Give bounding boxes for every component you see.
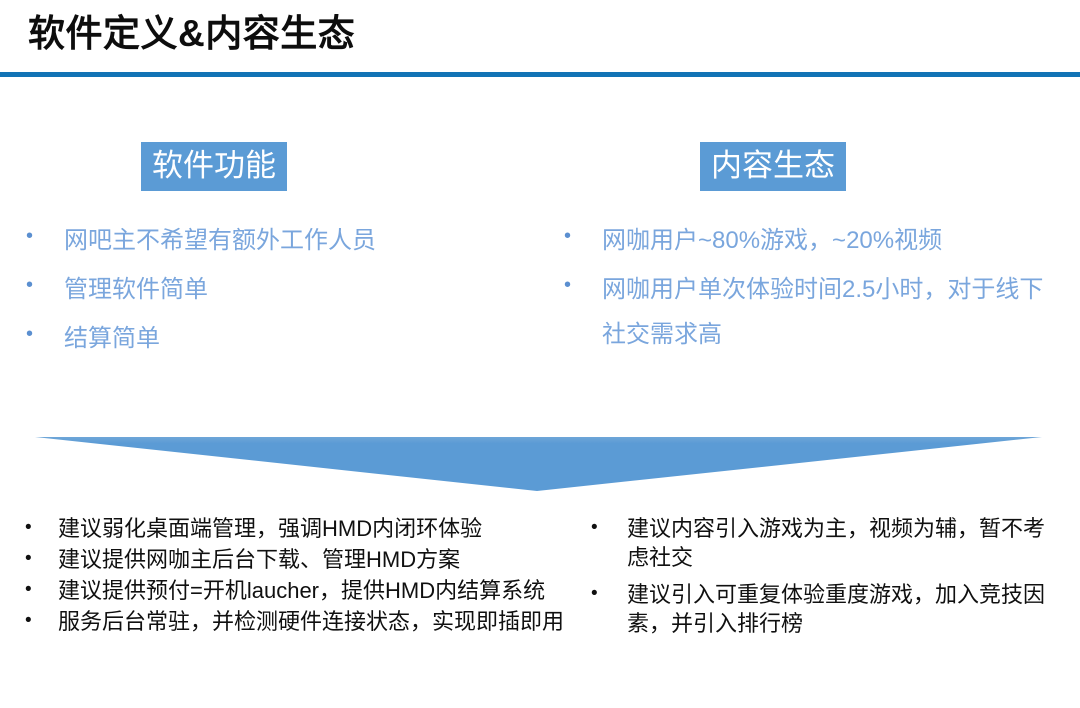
- list-item: • 网吧主不希望有额外工作人员: [22, 218, 542, 263]
- list-item-label: 网咖用户~80%游戏，~20%视频: [602, 218, 1060, 263]
- list-item-label: 建议提供网咖主后台下载、管理HMD方案: [58, 545, 567, 574]
- list-item: • 建议内容引入游戏为主，视频为辅，暂不考虑社交: [588, 514, 1058, 572]
- list-item: • 建议提供预付=开机laucher，提供HMD内结算系统: [22, 576, 567, 605]
- bullet-dot-icon: •: [22, 316, 64, 354]
- section-heading-software: 软件功能: [141, 142, 287, 191]
- bullet-dot-icon: •: [22, 607, 58, 635]
- list-item-label: 网咖用户单次体验时间2.5小时，对于线下社交需求高: [602, 267, 1060, 357]
- page-title: 软件定义&内容生态: [28, 13, 355, 56]
- list-item: • 建议引入可重复体验重度游戏，加入竞技因素，并引入排行榜: [588, 580, 1058, 638]
- bullet-dot-icon: •: [588, 514, 627, 542]
- list-item-label: 网吧主不希望有额外工作人员: [64, 218, 542, 263]
- list-item: • 网咖用户~80%游戏，~20%视频: [560, 218, 1060, 263]
- bullet-dot-icon: •: [22, 514, 58, 542]
- software-requirements-list: • 网吧主不希望有额外工作人员 • 管理软件简单 • 结算简单: [22, 218, 542, 365]
- title-divider-rule: [0, 72, 1080, 77]
- bullet-dot-icon: •: [22, 267, 64, 305]
- list-item: • 管理软件简单: [22, 267, 542, 312]
- list-item: • 网咖用户单次体验时间2.5小时，对于线下社交需求高: [560, 267, 1060, 357]
- list-item-label: 服务后台常驻，并检测硬件连接状态，实现即插即用: [58, 607, 567, 636]
- bullet-dot-icon: •: [22, 218, 64, 256]
- list-item-label: 结算简单: [64, 316, 542, 361]
- content-insights-list: • 网咖用户~80%游戏，~20%视频 • 网咖用户单次体验时间2.5小时，对于…: [560, 218, 1060, 361]
- list-item-label: 建议引入可重复体验重度游戏，加入竞技因素，并引入排行榜: [627, 580, 1058, 638]
- bullet-dot-icon: •: [22, 545, 58, 573]
- content-recommendations-list: • 建议内容引入游戏为主，视频为辅，暂不考虑社交 • 建议引入可重复体验重度游戏…: [588, 514, 1058, 646]
- list-item: • 建议提供网咖主后台下载、管理HMD方案: [22, 545, 567, 574]
- list-item: • 服务后台常驻，并检测硬件连接状态，实现即插即用: [22, 607, 567, 636]
- list-item-label: 管理软件简单: [64, 267, 542, 312]
- bullet-dot-icon: •: [560, 267, 602, 305]
- bullet-dot-icon: •: [560, 218, 602, 256]
- down-arrow-icon: [0, 425, 1080, 505]
- section-heading-content: 内容生态: [700, 142, 846, 191]
- list-item-label: 建议提供预付=开机laucher，提供HMD内结算系统: [58, 576, 567, 605]
- bullet-dot-icon: •: [22, 576, 58, 604]
- list-item: • 建议弱化桌面端管理，强调HMD内闭环体验: [22, 514, 567, 543]
- list-item-label: 建议内容引入游戏为主，视频为辅，暂不考虑社交: [627, 514, 1058, 572]
- software-recommendations-list: • 建议弱化桌面端管理，强调HMD内闭环体验 • 建议提供网咖主后台下载、管理H…: [22, 514, 567, 638]
- bullet-dot-icon: •: [588, 580, 627, 608]
- list-item-label: 建议弱化桌面端管理，强调HMD内闭环体验: [58, 514, 567, 543]
- list-item: • 结算简单: [22, 316, 542, 361]
